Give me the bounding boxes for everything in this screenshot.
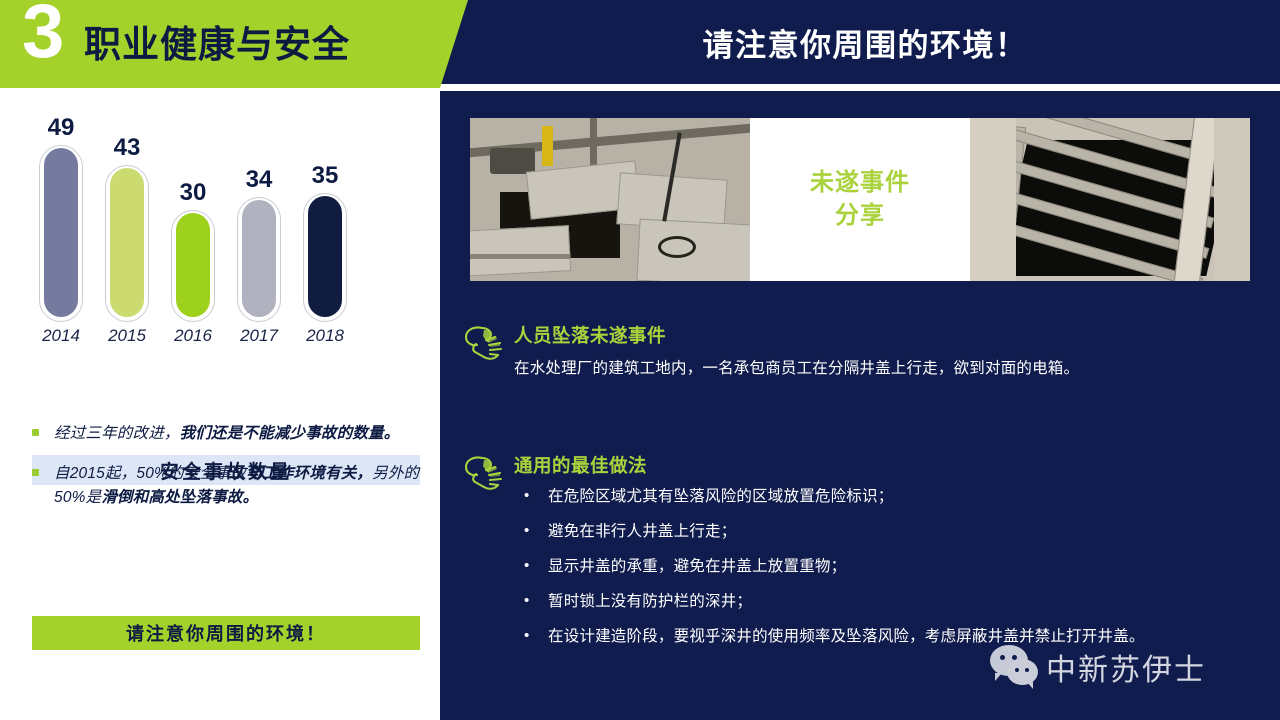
left-callout-text: 请注意你周围的环境！ xyxy=(126,620,326,646)
section-best-practice: 通用的最佳做法•在危险区域尤其有坠落风险的区域放置危险标识；•避免在非行人井盖上… xyxy=(462,452,1262,662)
x-tick-2015: 2015 xyxy=(97,326,157,346)
section-bullet-list: •在危险区域尤其有坠落风险的区域放置危险标识；•避免在非行人井盖上行走；•显示井… xyxy=(514,487,1262,648)
section-bullet-item: •显示井盖的承重，避免在井盖上放置重物； xyxy=(514,557,1262,578)
chart-bar-2018: 35 xyxy=(302,164,348,322)
bar-fill xyxy=(44,148,78,317)
section-body: 通用的最佳做法•在危险区域尤其有坠落风险的区域放置危险标识；•避免在非行人井盖上… xyxy=(514,452,1262,662)
strip-caption: 未遂事件 分享 xyxy=(750,118,970,281)
bullet-dot-icon: • xyxy=(514,557,548,578)
bar-fill xyxy=(110,168,144,317)
left-bullet-item: 自2015起，50%的安全事故与工作环境有关，另外的50%是滑倒和高处坠落事故。 xyxy=(32,462,422,510)
bullet-dot-icon: • xyxy=(514,522,548,543)
right-panel: 请注意你周围的环境！ 未遂事件 分享 xyxy=(440,0,1280,720)
bar-fill xyxy=(176,213,210,317)
section-bullet-item: •避免在非行人井盖上行走； xyxy=(514,522,1262,543)
bar-outline xyxy=(171,210,215,322)
slide: 3 职业健康与安全 4943303435 2014201520162017201… xyxy=(0,0,1280,720)
strip-caption-line2: 分享 xyxy=(835,200,885,232)
strip-caption-line1: 未遂事件 xyxy=(810,167,910,199)
safety-glove-icon xyxy=(462,452,514,497)
x-tick-2016: 2016 xyxy=(163,326,223,346)
x-tick-2017: 2017 xyxy=(229,326,289,346)
chart-bar-2015: 43 xyxy=(104,136,150,322)
section-title: 职业健康与安全 xyxy=(84,26,350,63)
right-header-title: 请注意你周围的环境！ xyxy=(703,20,1028,65)
bullet-dot-icon: • xyxy=(514,487,548,508)
section-header: 通用的最佳做法•在危险区域尤其有坠落风险的区域放置危险标识；•避免在非行人井盖上… xyxy=(462,452,1262,662)
bar-value-label: 49 xyxy=(48,116,75,140)
left-bullet-list: 经过三年的改进，我们还是不能减少事故的数量。自2015起，50%的安全事故与工作… xyxy=(32,422,422,526)
bar-outline xyxy=(303,193,347,322)
section-body: 人员坠落未遂事件在水处理厂的建筑工地内，一名承包商员工在分隔井盖上行走，欲到对面… xyxy=(514,322,1262,380)
bar-outline xyxy=(237,197,281,322)
left-bullet-text: 自2015起，50%的安全事故与工作环境有关，另外的50%是滑倒和高处坠落事故。 xyxy=(54,462,422,510)
header-divider xyxy=(440,84,1280,91)
section-bullet-text: 在设计建造阶段，要视乎深井的使用频率及坠落风险，考虑屏蔽井盖并禁止打开井盖。 xyxy=(548,627,1262,648)
left-bullet-item: 经过三年的改进，我们还是不能减少事故的数量。 xyxy=(32,422,422,446)
left-bullet-text: 经过三年的改进，我们还是不能减少事故的数量。 xyxy=(54,422,422,446)
section-bullet-text: 显示井盖的承重，避免在井盖上放置重物； xyxy=(548,557,1262,578)
x-tick-2014: 2014 xyxy=(31,326,91,346)
bar-fill xyxy=(308,196,342,317)
safety-glove-icon xyxy=(462,454,506,492)
chart-x-axis-labels: 20142015201620172018 xyxy=(38,326,368,352)
bar-value-label: 35 xyxy=(312,164,339,188)
photo-open-manhole xyxy=(470,118,750,281)
section-title: 通用的最佳做法 xyxy=(514,452,1262,478)
photo-strip: 未遂事件 分享 xyxy=(470,118,1250,281)
bar-value-label: 34 xyxy=(246,168,273,192)
section-bullet-text: 避免在非行人井盖上行走； xyxy=(548,522,1262,543)
section-bullet-item: •暂时锁上没有防护栏的深井； xyxy=(514,592,1262,613)
section-bullet-item: •在危险区域尤其有坠落风险的区域放置危险标识； xyxy=(514,487,1262,508)
photo-open-trench-grating xyxy=(970,118,1250,281)
bar-outline xyxy=(105,165,149,322)
chart-bars: 4943303435 xyxy=(38,100,368,322)
section-incident: 人员坠落未遂事件在水处理厂的建筑工地内，一名承包商员工在分隔井盖上行走，欲到对面… xyxy=(462,322,1262,380)
bar-value-label: 43 xyxy=(114,136,141,160)
left-column: 3 职业健康与安全 4943303435 2014201520162017201… xyxy=(0,0,440,720)
section-bullet-text: 暂时锁上没有防护栏的深井； xyxy=(548,592,1262,613)
section-number: 3 xyxy=(22,0,62,70)
bar-fill xyxy=(242,200,276,317)
left-green-header: 3 职业健康与安全 xyxy=(0,0,440,88)
chart-bar-2017: 34 xyxy=(236,168,282,322)
bullet-dot-icon: • xyxy=(514,592,548,613)
bar-value-label: 30 xyxy=(180,181,207,205)
bar-outline xyxy=(39,145,83,322)
safety-glove-icon xyxy=(462,324,506,362)
bullet-dot-icon: • xyxy=(514,627,548,648)
x-tick-2018: 2018 xyxy=(295,326,355,346)
chart-bar-2016: 30 xyxy=(170,181,216,322)
chart-bar-2014: 49 xyxy=(38,116,84,322)
bullet-marker-icon xyxy=(32,422,54,446)
left-callout-banner: 请注意你周围的环境！ xyxy=(32,616,420,650)
bullet-marker-icon xyxy=(32,462,54,510)
safety-glove-icon xyxy=(462,322,514,367)
section-title: 人员坠落未遂事件 xyxy=(514,322,1262,348)
section-bullet-text: 在危险区域尤其有坠落风险的区域放置危险标识； xyxy=(548,487,1262,508)
section-description: 在水处理厂的建筑工地内，一名承包商员工在分隔井盖上行走，欲到对面的电箱。 xyxy=(514,357,1262,380)
section-bullet-item: •在设计建造阶段，要视乎深井的使用频率及坠落风险，考虑屏蔽井盖并禁止打开井盖。 xyxy=(514,627,1262,648)
safety-incidents-chart: 4943303435 20142015201620172018 安全事故数量 xyxy=(0,100,440,360)
section-header: 人员坠落未遂事件在水处理厂的建筑工地内，一名承包商员工在分隔井盖上行走，欲到对面… xyxy=(462,322,1262,380)
right-header: 请注意你周围的环境！ xyxy=(440,0,1280,84)
